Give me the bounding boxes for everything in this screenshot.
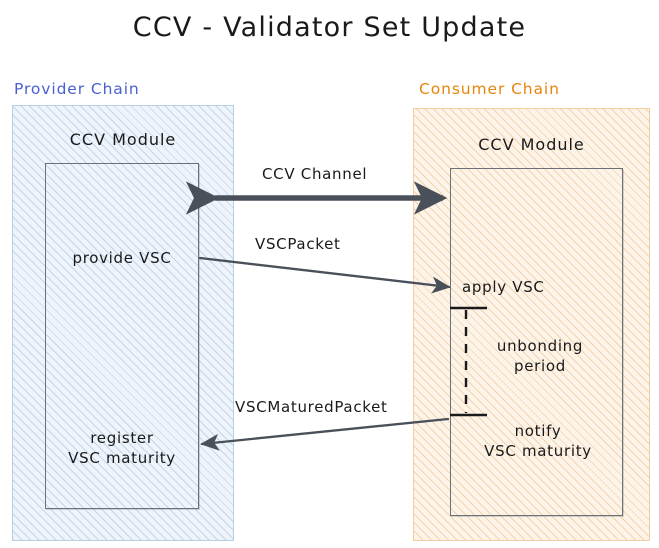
consumer-chain-label: Consumer Chain (419, 80, 560, 98)
annotation-unbonding-period: unbonding period (478, 336, 602, 377)
edge-label-vscmaturedpacket: VSCMaturedPacket (235, 398, 388, 416)
provider-ccv-module-title: CCV Module (12, 130, 234, 149)
edge-label-ccv-channel: CCV Channel (262, 165, 367, 183)
consumer-ccv-module-title: CCV Module (413, 135, 650, 154)
edge-vscpacket (200, 258, 449, 287)
diagram-canvas: CCV - Validator Set Update Provider Chai… (0, 0, 659, 548)
node-provide-vsc: provide VSC (45, 248, 199, 268)
node-apply-vsc: apply VSC (462, 277, 612, 297)
edge-label-vscpacket: VSCPacket (255, 235, 341, 253)
node-register-vsc-maturity: register VSC maturity (38, 428, 206, 469)
diagram-title: CCV - Validator Set Update (0, 12, 659, 43)
edge-vscmaturedpacket (202, 419, 448, 444)
provider-chain-label: Provider Chain (14, 80, 140, 98)
node-notify-vsc-maturity: notify VSC maturity (452, 421, 624, 462)
